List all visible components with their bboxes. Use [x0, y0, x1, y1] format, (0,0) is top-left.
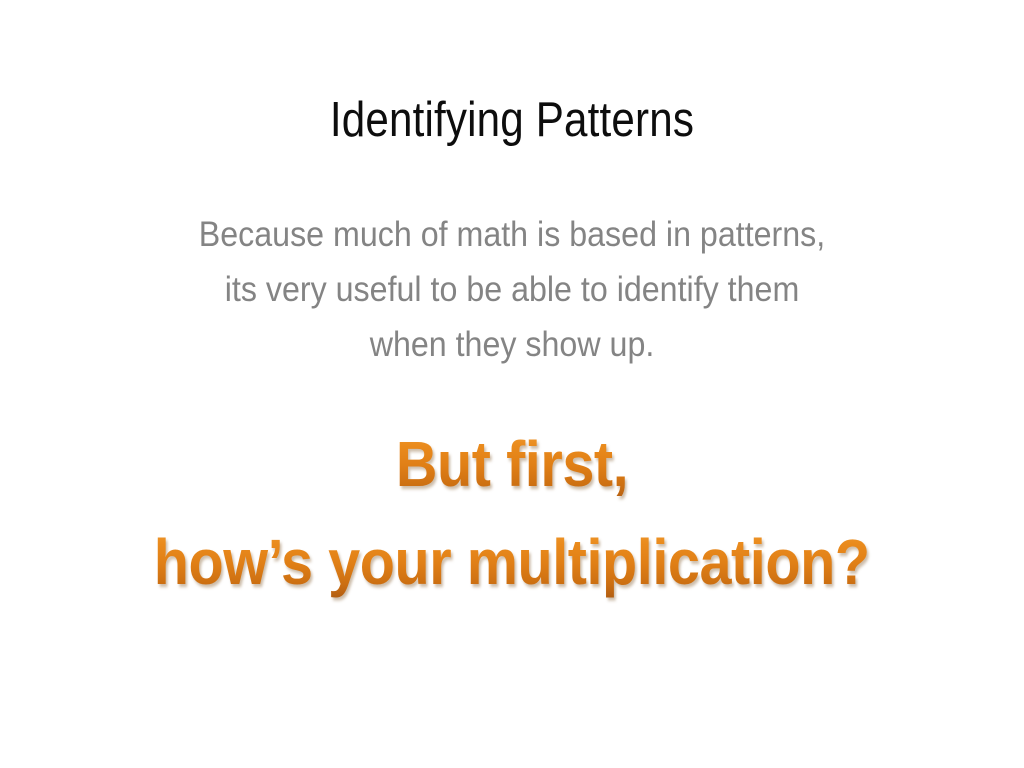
- page-title: Identifying Patterns: [72, 91, 953, 149]
- wordart-line-1-text: But first,: [396, 425, 628, 503]
- slide-canvas: Identifying Patterns Because much of mat…: [0, 0, 1024, 768]
- wordart-block: But first, how’s your multiplication?: [0, 425, 1024, 619]
- wordart-line-2-text: how’s your multiplication?: [154, 523, 870, 601]
- wordart-line-but-first: But first,: [0, 425, 1024, 521]
- wordart-line-multiplication: how’s your multiplication?: [0, 523, 1024, 619]
- slide-subtitle: Because much of math is based in pattern…: [190, 207, 834, 372]
